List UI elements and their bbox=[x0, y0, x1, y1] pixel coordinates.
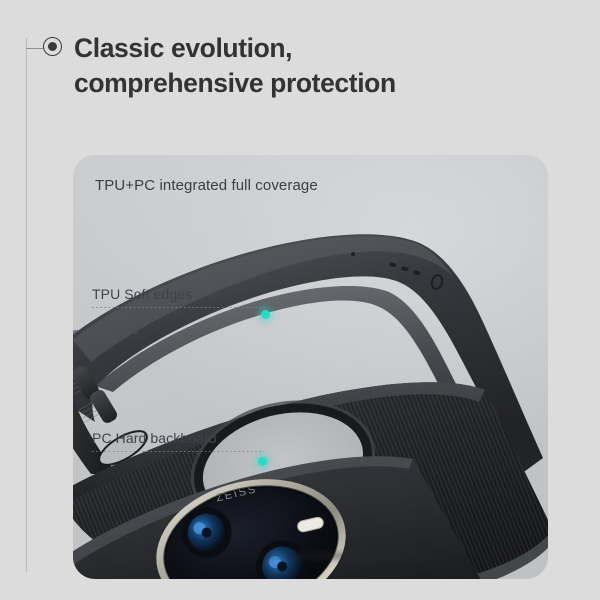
callout-marker-dot bbox=[261, 310, 270, 319]
heading-block: Classic evolution, comprehensive protect… bbox=[43, 31, 563, 101]
callout-tpu-soft-edges: TPU Soft edges bbox=[92, 286, 267, 308]
callout-pc-hard-backboard: PC Hard backboard bbox=[92, 430, 264, 452]
callout-marker-dot bbox=[258, 457, 267, 466]
callout-leader-line bbox=[92, 451, 264, 452]
product-showcase-card: TPU+PC integrated full coverage bbox=[73, 155, 548, 579]
product-feature-banner: Classic evolution, comprehensive protect… bbox=[0, 0, 600, 600]
callout-label: PC Hard backboard bbox=[92, 430, 264, 446]
callout-leader-line bbox=[92, 307, 267, 308]
contact-shadow bbox=[193, 547, 493, 565]
left-rail-line bbox=[26, 38, 27, 572]
left-rail-tick bbox=[26, 48, 43, 49]
page-title: Classic evolution, comprehensive protect… bbox=[74, 31, 396, 101]
callout-label: TPU Soft edges bbox=[92, 286, 267, 302]
target-dot-icon bbox=[43, 37, 62, 56]
